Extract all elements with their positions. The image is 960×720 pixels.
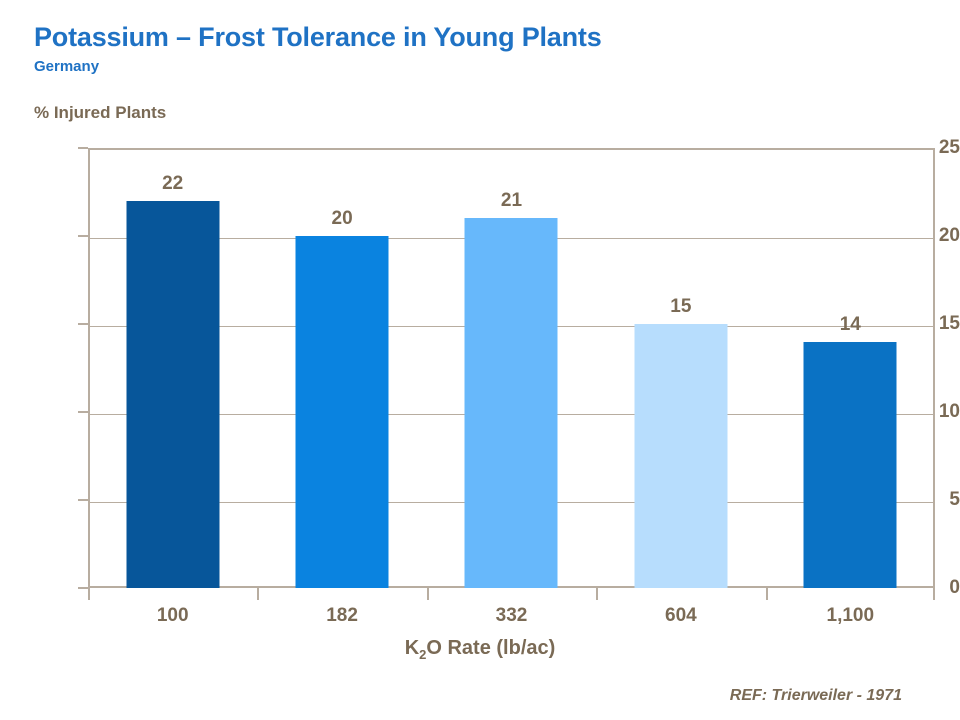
- x-axis: 1001823326041,100: [88, 588, 935, 638]
- x-tick-mark: [88, 588, 90, 600]
- bar-value-label: 14: [840, 314, 861, 336]
- x-tick-mark: [257, 588, 259, 600]
- bar-value-label: 22: [162, 173, 183, 195]
- chart-subtitle: Germany: [34, 58, 99, 75]
- y-axis-title: % Injured Plants: [34, 103, 166, 123]
- x-tick-mark: [596, 588, 598, 600]
- bar-group: 22: [88, 148, 257, 588]
- bar-group: 15: [596, 148, 765, 588]
- x-tick-mark: [766, 588, 768, 600]
- chart-page: Potassium – Frost Tolerance in Young Pla…: [0, 0, 960, 720]
- y-tick-mark: [78, 147, 88, 149]
- bar-value-label: 20: [332, 208, 353, 230]
- y-tick-mark: [78, 587, 88, 589]
- bar-value-label: 21: [501, 190, 522, 212]
- bar-value-label: 15: [670, 296, 691, 318]
- x-tick-label: 182: [326, 605, 358, 627]
- bar-group: 14: [766, 148, 935, 588]
- x-tick-label: 100: [157, 605, 189, 627]
- x-tick-label: 604: [665, 605, 697, 627]
- x-axis-title-text: K2O Rate (lb/ac): [405, 637, 556, 659]
- x-tick-label: 1,100: [827, 605, 875, 627]
- reference-note: REF: Trierweiler - 1971: [730, 687, 902, 705]
- bar-group: 21: [427, 148, 596, 588]
- x-axis-title: K2O Rate (lb/ac): [0, 637, 960, 662]
- bar[interactable]: [126, 201, 219, 588]
- x-tick-mark: [933, 588, 935, 600]
- x-tick-mark: [427, 588, 429, 600]
- page-title: Potassium – Frost Tolerance in Young Pla…: [34, 22, 602, 53]
- bar[interactable]: [804, 342, 897, 588]
- y-tick-mark: [78, 499, 88, 501]
- bar-group: 20: [257, 148, 426, 588]
- y-tick-mark: [78, 323, 88, 325]
- bar[interactable]: [634, 324, 727, 588]
- y-tick-mark: [78, 411, 88, 413]
- bar[interactable]: [465, 218, 558, 588]
- bars-layer: 2220211514: [88, 148, 935, 588]
- y-tick-mark: [78, 235, 88, 237]
- x-tick-label: 332: [496, 605, 528, 627]
- bar[interactable]: [296, 236, 389, 588]
